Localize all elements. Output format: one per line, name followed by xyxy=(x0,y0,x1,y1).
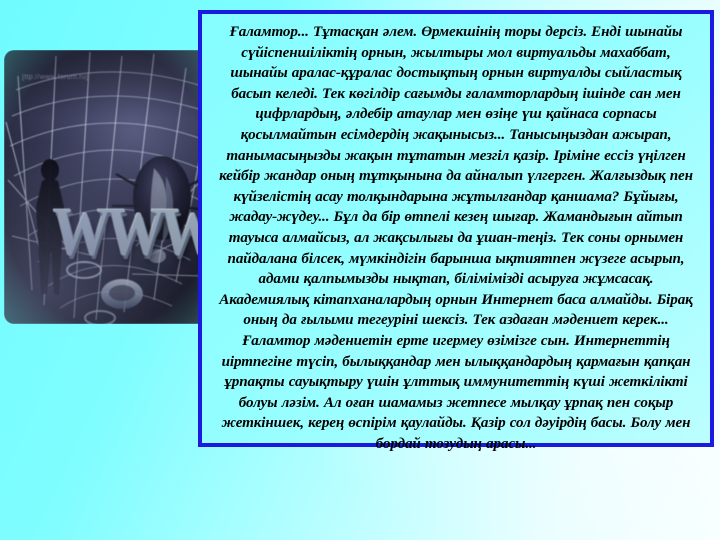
content-text-box: Ғаламтор... Тұтасқан әлем. Өрмекшінің то… xyxy=(198,10,714,447)
body-paragraph: Ғаламтор... Тұтасқан әлем. Өрмекшінің то… xyxy=(218,22,694,454)
photo-vignette xyxy=(4,50,214,324)
spider-web-illustration: WWW [ttp://www.forum.ru] xyxy=(4,50,214,324)
photo-frame: WWW [ttp://www.forum.ru] xyxy=(4,50,214,324)
